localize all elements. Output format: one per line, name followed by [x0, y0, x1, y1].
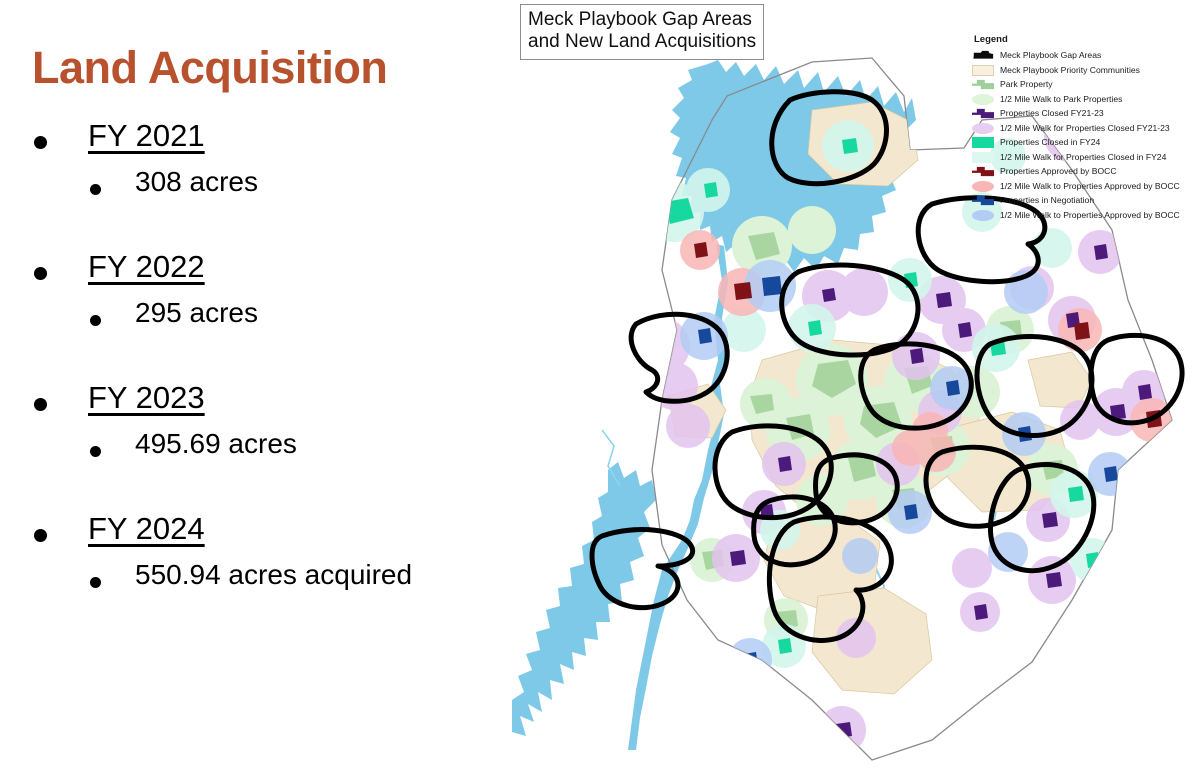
legend-item-label: 1/2 Mile Walk to Park Properties: [1000, 95, 1122, 104]
legend-item-gap-areas: Meck Playbook Gap Areas: [972, 49, 1180, 62]
bullet-icon: [34, 398, 47, 411]
closed-fy2123-swatch: [972, 108, 994, 119]
fy-detail: 295 acres: [135, 297, 258, 329]
approved-bocc-swatch: [972, 166, 994, 177]
priority-community-swatch: [972, 65, 994, 76]
legend-item-label: 1/2 Mile Walk to Properties Approved by …: [1000, 211, 1180, 220]
fy-label: FY 2024: [88, 511, 205, 547]
legend-item-label: Properties in Negotiation: [1000, 196, 1094, 205]
list-item: FY 2023 495.69 acres: [0, 380, 512, 511]
legend-item-negotiation-walk: 1/2 Mile Walk to Properties Approved by …: [972, 209, 1180, 222]
legend-item-label: Park Property: [1000, 80, 1053, 89]
fy-label: FY 2021: [88, 118, 205, 154]
park-property-swatch: [972, 79, 994, 90]
fy-detail: 495.69 acres: [135, 428, 297, 460]
legend-item-label: Properties Closed in FY24: [1000, 138, 1100, 147]
fy-detail: 550.94 acres acquired: [135, 559, 412, 591]
negotiation-walk-swatch: [972, 210, 994, 221]
legend-item-closed-fy24-walk: 1/2 Mile Walk for Properties Closed in F…: [972, 151, 1180, 164]
sub-bullet-icon: [90, 446, 101, 457]
closed-fy24-swatch: [972, 137, 994, 148]
page-title: Land Acquisition: [32, 42, 387, 94]
park-walk-swatch: [972, 94, 994, 105]
fy-label: FY 2023: [88, 380, 205, 416]
legend-item-approved-bocc: Properties Approved by BOCC: [972, 165, 1180, 178]
fy-label: FY 2022: [88, 249, 205, 285]
legend-item-label: Meck Playbook Gap Areas: [1000, 51, 1101, 60]
closed-fy24-walk-swatch: [972, 152, 994, 163]
map-title-line-2: and New Land Acquisitions: [528, 31, 756, 53]
bullet-icon: [34, 267, 47, 280]
legend-item-closed-fy2123-walk: 1/2 Mile Walk for Properties Closed FY21…: [972, 122, 1180, 135]
bullet-icon: [34, 529, 47, 542]
legend-item-approved-bocc-walk: 1/2 Mile Walk to Properties Approved by …: [972, 180, 1180, 193]
fiscal-year-list: FY 2021 308 acres FY 2022 295 acres FY 2…: [0, 118, 512, 642]
legend-item-closed-fy2123: Properties Closed FY21-23: [972, 107, 1180, 120]
legend-item-label: Meck Playbook Priority Communities: [1000, 66, 1140, 75]
legend-item-label: Properties Closed FY21-23: [1000, 109, 1104, 118]
map-title-box: Meck Playbook Gap Areas and New Land Acq…: [520, 4, 764, 60]
legend-title: Legend: [974, 34, 1180, 45]
legend-item-label: Properties Approved by BOCC: [1000, 167, 1117, 176]
closed-fy2123-walk-swatch: [972, 123, 994, 134]
legend-item-label: 1/2 Mile Walk for Properties Closed FY21…: [1000, 124, 1170, 133]
legend-item-label: 1/2 Mile Walk to Properties Approved by …: [1000, 182, 1180, 191]
gap-area-icon: [972, 50, 994, 61]
map-figure: Meck Playbook Gap Areas and New Land Acq…: [512, 0, 1200, 776]
legend-item-park-walk: 1/2 Mile Walk to Park Properties: [972, 93, 1180, 106]
bullet-icon: [34, 136, 47, 149]
legend-item-label: 1/2 Mile Walk for Properties Closed in F…: [1000, 153, 1166, 162]
sub-bullet-icon: [90, 577, 101, 588]
legend-item-park-property: Park Property: [972, 78, 1180, 91]
content-panel: Land Acquisition FY 2021 308 acres FY 20…: [0, 0, 512, 776]
fy-detail: 308 acres: [135, 166, 258, 198]
list-item: FY 2022 295 acres: [0, 249, 512, 380]
map-title-line-1: Meck Playbook Gap Areas: [528, 9, 756, 31]
approved-bocc-walk-swatch: [972, 181, 994, 192]
slide-root: Land Acquisition FY 2021 308 acres FY 20…: [0, 0, 1200, 776]
list-item: FY 2024 550.94 acres acquired: [0, 511, 512, 642]
legend-item-closed-fy24: Properties Closed in FY24: [972, 136, 1180, 149]
legend-item-in-negotiation: Properties in Negotiation: [972, 194, 1180, 207]
in-negotiation-swatch: [972, 195, 994, 206]
legend-item-priority-communities: Meck Playbook Priority Communities: [972, 64, 1180, 77]
list-item: FY 2021 308 acres: [0, 118, 512, 249]
sub-bullet-icon: [90, 315, 101, 326]
sub-bullet-icon: [90, 184, 101, 195]
map-legend: Legend Meck Playbook Gap Areas Meck Play…: [972, 34, 1180, 223]
